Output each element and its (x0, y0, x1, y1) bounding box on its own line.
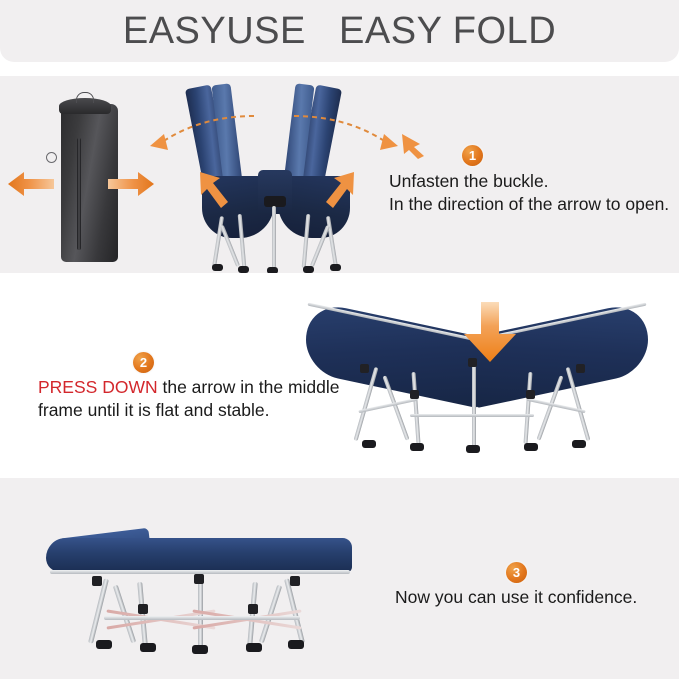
cot-foot (572, 440, 586, 448)
cot-foot (303, 266, 314, 273)
cot-foot (288, 640, 304, 649)
arrow-down-right-small-icon (400, 132, 430, 160)
cot-joint (576, 364, 585, 373)
cot-foot (192, 645, 208, 654)
arrow-right-icon (108, 170, 156, 198)
arrow-down-icon (462, 302, 518, 364)
cot-foot (410, 443, 424, 451)
cot-joint (290, 576, 300, 586)
cot-foot (362, 440, 376, 448)
cot-joint (410, 390, 419, 399)
step-3-text: Now you can use it confidence. (395, 586, 665, 609)
arrow-up-right-icon (322, 168, 358, 210)
cot-foot (330, 264, 341, 271)
cot-mattress-fabric (46, 538, 352, 572)
page-title: EASYUSE EASY FOLD (0, 0, 679, 62)
cot-foot (524, 443, 538, 451)
step-3-badge: 3 (506, 562, 527, 583)
step-1-badge: 1 (462, 145, 483, 166)
carry-bag-drawcord (76, 92, 94, 103)
cot-foot (238, 266, 249, 273)
cot-joint (360, 364, 369, 373)
cot-center-rail (104, 616, 300, 620)
cot-joint (92, 576, 102, 586)
cot-leg (472, 362, 476, 448)
step-2-badge: 2 (133, 352, 154, 373)
cot-leg (272, 206, 276, 268)
step-1-text: Unfasten the buckle. In the direction of… (389, 170, 679, 216)
assembled-cot-illustration (40, 530, 360, 655)
arrow-up-left-icon (196, 168, 232, 210)
arrow-left-icon (6, 170, 54, 198)
cot-joint (248, 604, 258, 614)
cot-joint (526, 390, 535, 399)
carry-bag-ring (46, 152, 57, 163)
cot-foot (246, 643, 262, 652)
cot-cross-rail (410, 414, 534, 417)
header-banner: EASYUSE EASY FOLD (0, 0, 679, 62)
cot-foot (96, 640, 112, 649)
curved-dashed-arrow-icon-left (140, 110, 260, 166)
cot-foot (212, 264, 223, 271)
cot-joint (194, 574, 204, 584)
step-2-text: PRESS DOWN the arrow in the middle frame… (38, 376, 348, 422)
step-2-emphasis: PRESS DOWN (38, 377, 158, 397)
cot-leg (247, 582, 258, 646)
cot-foot (466, 445, 480, 453)
cot-joint (138, 604, 148, 614)
curved-dashed-arrow-icon-right (288, 110, 408, 166)
cot-foot (140, 643, 156, 652)
